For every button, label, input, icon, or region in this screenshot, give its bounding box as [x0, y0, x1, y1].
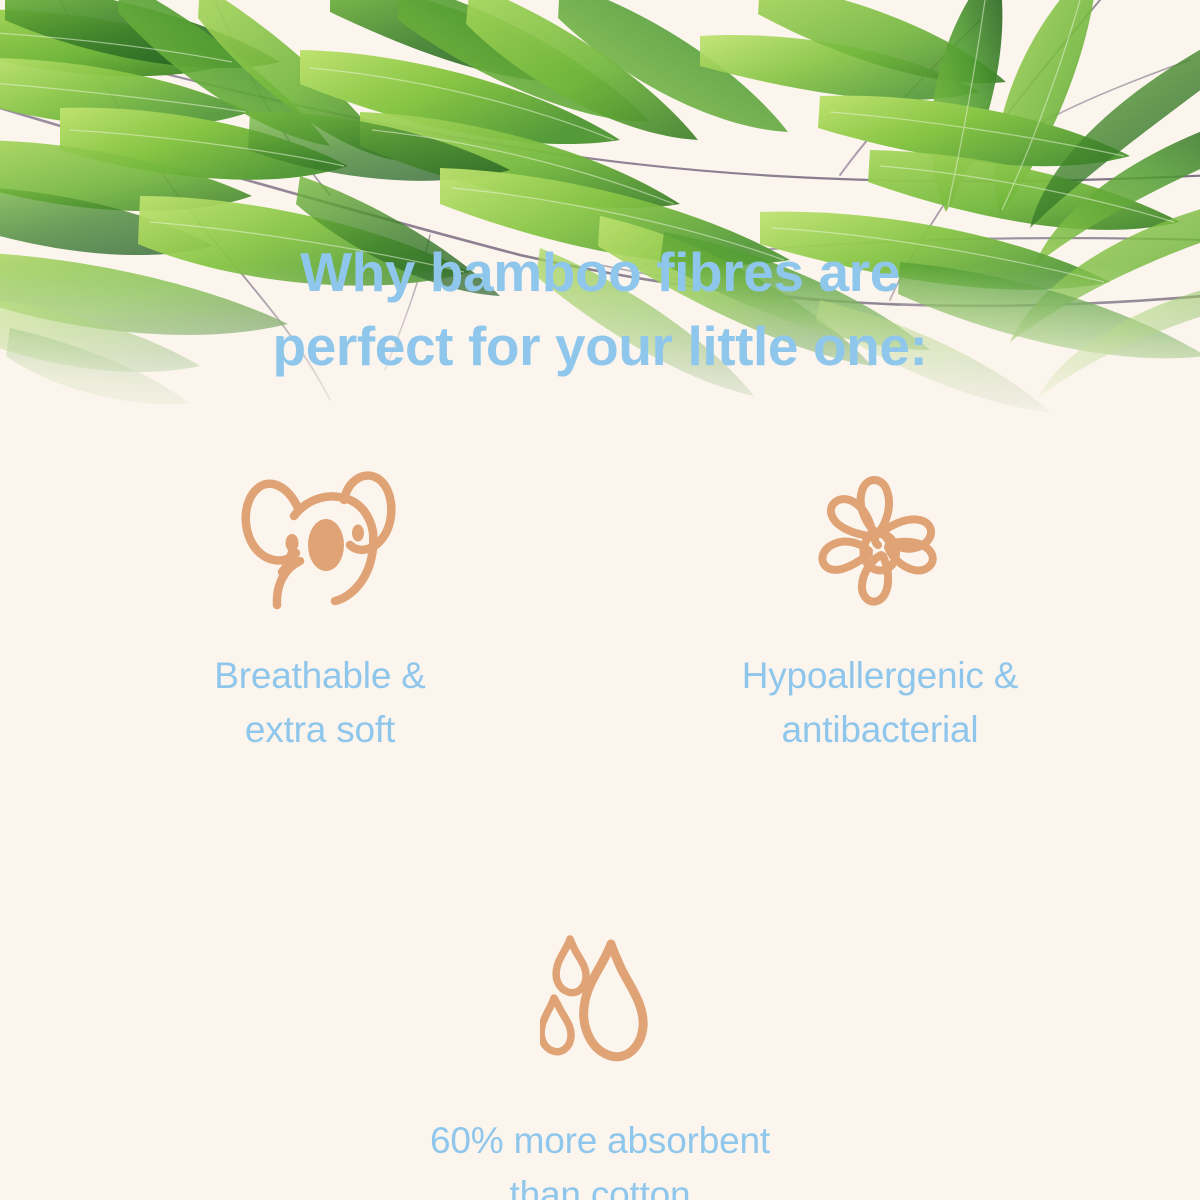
feature-hypoallergenic: Hypoallergenic & antibacterial [700, 455, 1060, 757]
koala-icon [234, 455, 406, 625]
feature-hypoallergenic-label-line-1: Hypoallergenic & [742, 649, 1019, 703]
feature-row-bottom: 60% more absorbent than cotton [0, 921, 1200, 1200]
promo-canvas: Why bamboo fibres are perfect for your l… [0, 0, 1200, 1200]
feature-absorbent-label-line-2: than cotton [430, 1168, 770, 1200]
page-title-line-2: perfect for your little one: [0, 310, 1200, 384]
feature-hypoallergenic-label: Hypoallergenic & antibacterial [742, 649, 1019, 757]
feature-row-top: Breathable & extra soft [0, 455, 1200, 757]
feature-breathable-label: Breathable & extra soft [214, 649, 426, 757]
feature-absorbent-label-line-1: 60% more absorbent [430, 1114, 770, 1168]
feature-absorbent-label: 60% more absorbent than cotton [430, 1114, 770, 1200]
feature-breathable-label-line-2: extra soft [214, 703, 426, 757]
feature-hypoallergenic-label-line-2: antibacterial [742, 703, 1019, 757]
feature-list: Breathable & extra soft [0, 455, 1200, 1200]
page-title: Why bamboo fibres are perfect for your l… [0, 236, 1200, 383]
feature-absorbent: 60% more absorbent than cotton [340, 921, 860, 1200]
page-title-line-1: Why bamboo fibres are [0, 236, 1200, 310]
water-drops-icon [540, 921, 660, 1086]
flower-icon [813, 455, 947, 625]
feature-breathable: Breathable & extra soft [140, 455, 500, 757]
feature-breathable-label-line-1: Breathable & [214, 649, 426, 703]
